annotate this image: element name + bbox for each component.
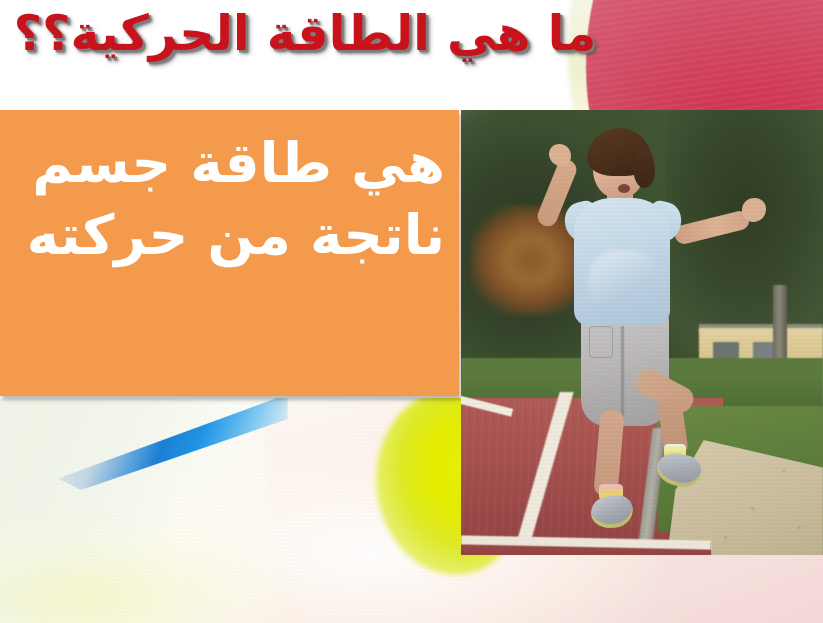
definition-text: هي طاقة جسم ناتجة من حركته [10,126,445,274]
definition-panel: هي طاقة جسم ناتجة من حركته [0,110,459,396]
blue-streak-shape [58,398,288,490]
lemon-wash-shape [0,518,290,623]
definition-line-1: هي طاقة جسم [10,126,445,202]
photo-girl-shirt-highlight [589,250,659,316]
green-wedge-shape [0,398,283,623]
slide-canvas: ما هي الطاقة الحركية؟؟ هي طاقة جسم ناتجة… [0,0,823,623]
photo-girl-left-hand [549,144,571,166]
definition-line-2: ناتجة من حركته [10,198,445,274]
slide-title: ما هي الطاقة الحركية؟؟ [0,8,610,59]
photo-girl-mouth [618,184,630,193]
photo-girl-jumping [461,110,823,555]
photo-girl-pants-seam [621,316,624,420]
photo-girl-pants-pocket [589,326,613,358]
